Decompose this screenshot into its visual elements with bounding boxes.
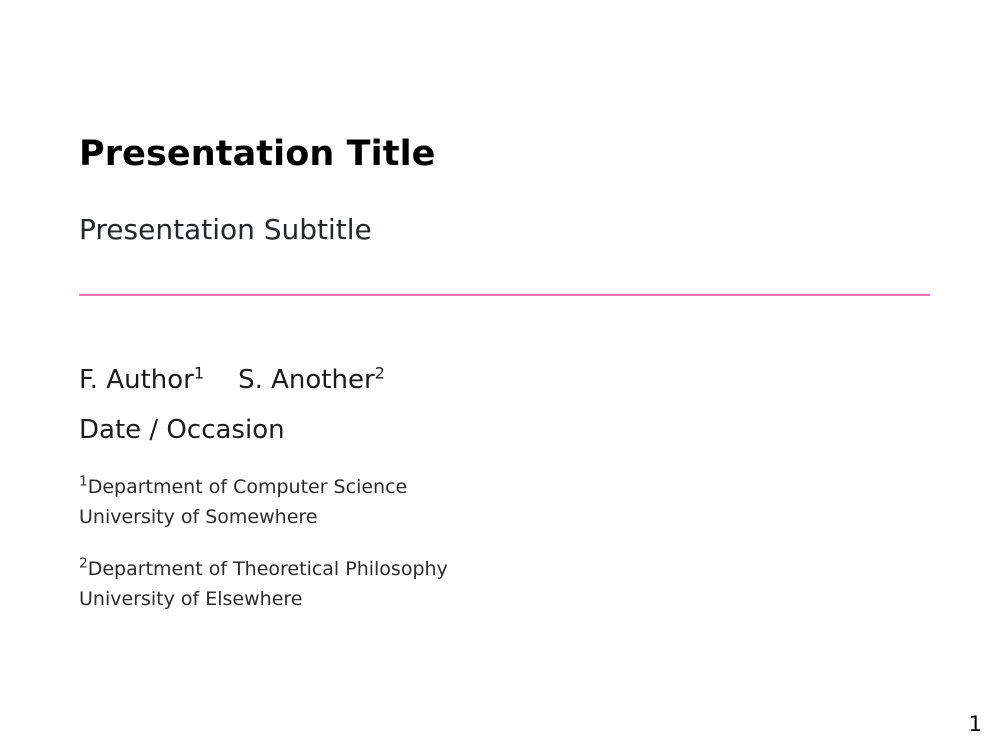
title-block: Presentation Title Presentation Subtitle <box>79 134 939 247</box>
author-name: S. Another <box>238 365 375 395</box>
affiliation-entry: 1Department of Computer Science Universi… <box>79 472 939 532</box>
affiliation-department: Department of Theoretical Philosophy <box>88 558 448 580</box>
author-affiliation-marker: 2 <box>375 363 385 382</box>
affiliation-list: 1Department of Computer Science Universi… <box>79 472 939 614</box>
page-title: Presentation Title <box>79 134 939 175</box>
affiliation-marker: 2 <box>79 556 88 572</box>
affiliation-institution: University of Elsewhere <box>79 584 939 614</box>
affiliation-entry: 2Department of Theoretical Philosophy Un… <box>79 554 939 614</box>
affiliation-marker: 1 <box>79 474 88 490</box>
affiliation-institution: University of Somewhere <box>79 502 939 532</box>
author-entry: F. Author1 <box>79 365 204 395</box>
affiliation-department: Department of Computer Science <box>88 476 408 498</box>
affiliation-department-line: 1Department of Computer Science <box>79 472 939 502</box>
page-number: 1 <box>969 714 982 735</box>
title-slide: Presentation Title Presentation Subtitle… <box>0 0 1008 756</box>
date-occasion: Date / Occasion <box>79 396 939 446</box>
author-entry: S. Another2 <box>238 365 385 395</box>
page-subtitle: Presentation Subtitle <box>79 175 939 247</box>
affiliation-department-line: 2Department of Theoretical Philosophy <box>79 554 939 584</box>
title-divider-rule <box>79 294 930 296</box>
author-list: F. Author1S. Another2 <box>79 366 939 396</box>
author-block: F. Author1S. Another2 Date / Occasion <box>79 366 939 446</box>
author-affiliation-marker: 1 <box>194 363 204 382</box>
author-name: F. Author <box>79 365 194 395</box>
